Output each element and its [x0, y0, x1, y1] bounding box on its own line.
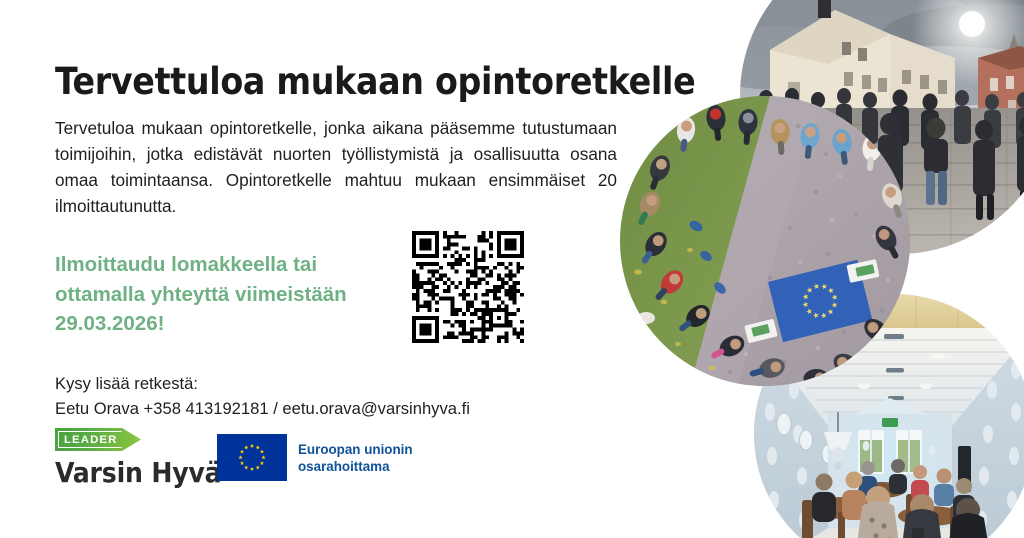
intro-paragraph: Tervetuloa mukaan opintoretkelle, jonka … — [55, 115, 617, 219]
text-column: Tervettuloa mukaan opintoretkelle Tervet… — [55, 0, 635, 538]
eu-flag-icon — [217, 434, 287, 481]
eu-funding-caption: Euroopan unionin osarahoittama — [298, 441, 413, 475]
qr-code[interactable] — [412, 231, 524, 343]
eu-funding-logo: Euroopan unionin osarahoittama — [217, 434, 413, 481]
leader-arrow-badge: LEADER — [55, 428, 141, 451]
poster-canvas: Tervettuloa mukaan opintoretkelle Tervet… — [0, 0, 1024, 538]
leader-logo: LEADER Varsin Hyvä — [55, 428, 195, 489]
photo-aerial-group-eu-flag — [620, 96, 910, 386]
signup-callout-line-1: Ilmoittaudu lomakkeella tai — [55, 250, 385, 280]
signup-callout: Ilmoittaudu lomakkeella tai ottamalla yh… — [55, 250, 385, 339]
contact-heading: Kysy lisää retkestä: — [55, 371, 595, 396]
signup-callout-line-2: ottamalla yhteyttä viimeistään — [55, 280, 385, 310]
page-title: Tervettuloa mukaan opintoretkelle — [55, 63, 675, 102]
eu-caption-line-1: Euroopan unionin — [298, 441, 413, 458]
photo-collage — [610, 0, 1024, 538]
leader-badge-label: LEADER — [55, 434, 117, 446]
contact-details: Eetu Orava +358 413192181 / eetu.orava@v… — [55, 396, 595, 421]
signup-deadline: 29.03.2026! — [55, 309, 385, 339]
contact-block: Kysy lisää retkestä: Eetu Orava +358 413… — [55, 371, 595, 421]
eu-caption-line-2: osarahoittama — [298, 458, 413, 475]
varsin-hyva-wordmark: Varsin Hyvä — [55, 456, 195, 489]
qr-code-canvas[interactable] — [412, 231, 524, 343]
